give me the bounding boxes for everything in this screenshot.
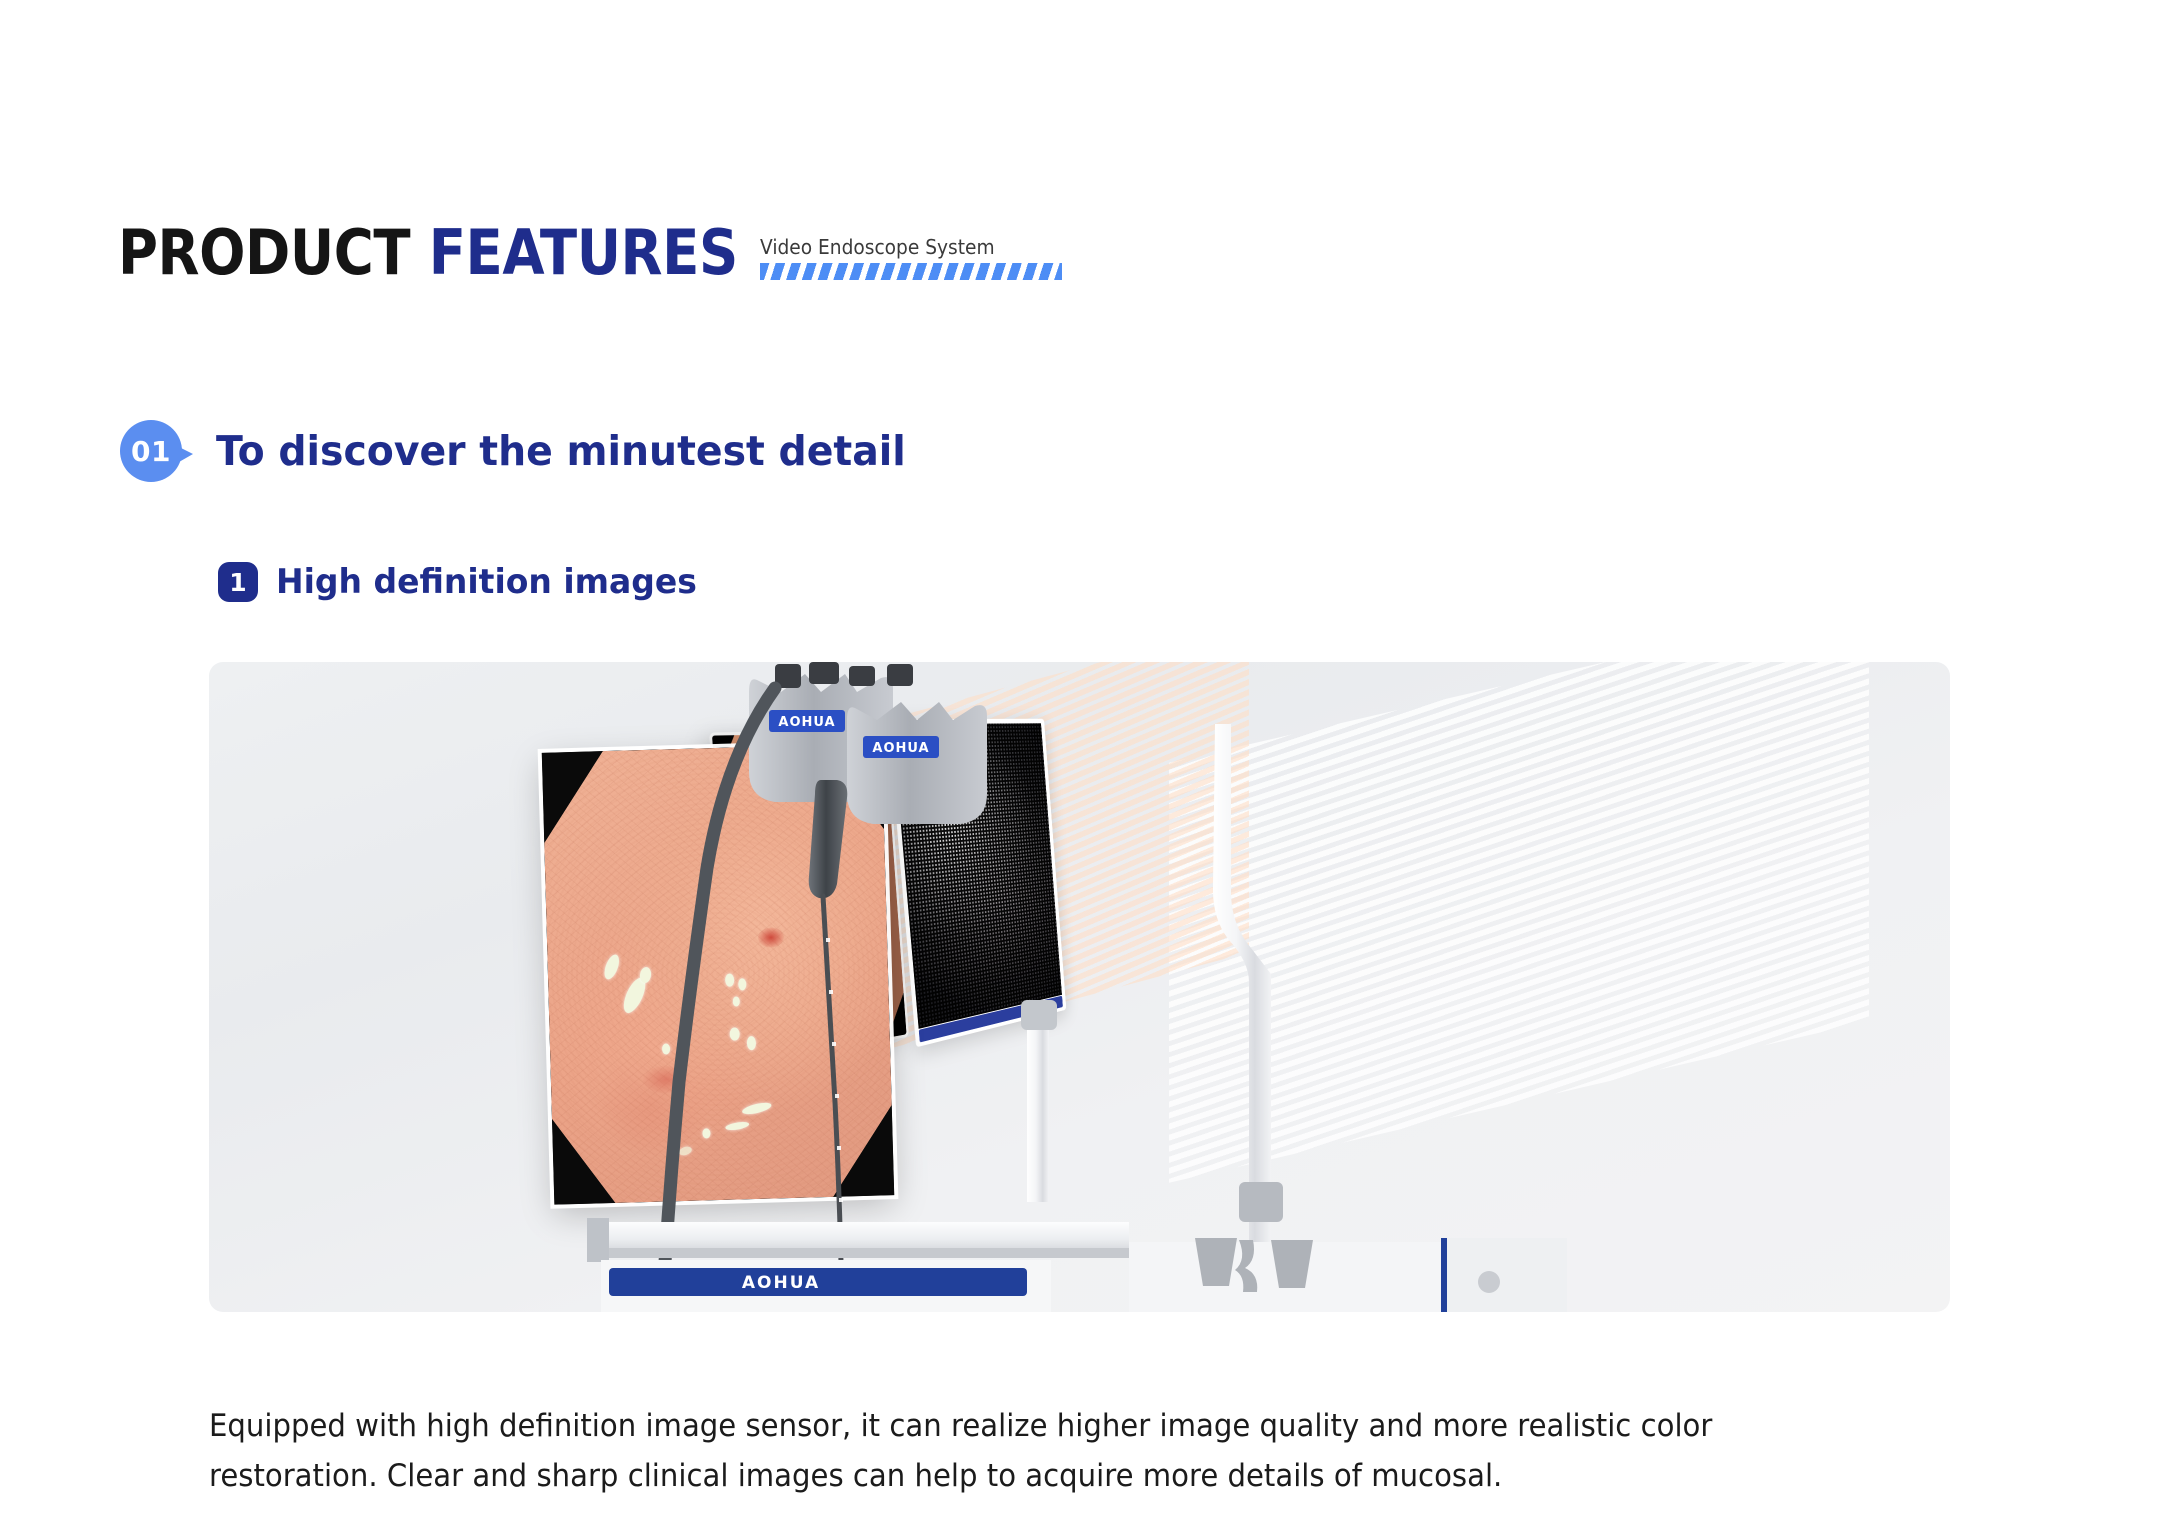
cart-top-shelf-edge xyxy=(601,1248,1129,1258)
page-title-part-product: PRODUCT xyxy=(118,216,429,289)
pole-clamp xyxy=(1239,1182,1283,1222)
page-title-part-features: FEATURES xyxy=(429,216,738,289)
connector-plugs xyxy=(775,662,913,688)
page-subtitle: Video Endoscope System xyxy=(760,236,1041,258)
subsection-number-badge: 1 xyxy=(218,562,258,602)
cart-shelf-end-cap xyxy=(587,1218,609,1262)
monitor-pixelated-screen xyxy=(892,723,1062,1029)
cart-lower-body xyxy=(1447,1238,1567,1312)
cart-support-pole xyxy=(1213,724,1271,1262)
processor-unit xyxy=(601,1260,1051,1312)
monitor-pixelated xyxy=(888,719,1067,1048)
cart-top-shelf xyxy=(601,1222,1129,1250)
section-heading-text: To discover the minutest detail xyxy=(216,427,906,475)
monitor-hd-screen xyxy=(542,743,894,1204)
mucosa-red-lesion-spot xyxy=(758,927,785,948)
endoscopy-cart-illustration: AOHUA AOHUA xyxy=(209,662,1950,1312)
mucus-highlight xyxy=(725,974,734,987)
cart-knob xyxy=(1478,1271,1500,1293)
diagonal-stripes-decoration xyxy=(760,263,1062,280)
mucus-highlight xyxy=(702,1128,710,1138)
product-figure-panel: AOHUA AOHUA xyxy=(209,662,1950,1312)
page-title-text: PRODUCT FEATURES xyxy=(118,222,738,284)
processor-brand-text: AOHUA xyxy=(742,1273,820,1293)
monitor-high-definition xyxy=(542,743,894,1204)
processor-brand-bar xyxy=(609,1268,1027,1296)
subsection-number-label: 1 xyxy=(229,568,246,597)
section-number-label: 01 xyxy=(131,435,171,468)
subsection-heading: 1 High definition images xyxy=(218,562,710,602)
page-title: PRODUCT FEATURES Video Endoscope System xyxy=(118,222,1062,284)
holder-left-logo-text: AOHUA xyxy=(778,715,835,730)
scope-cup-holders xyxy=(1195,1238,1313,1292)
cart-right-shelf xyxy=(1129,1242,1449,1312)
section-number-badge: 01 xyxy=(120,420,182,482)
section-heading: 01 To discover the minutest detail xyxy=(120,420,935,482)
feature-description: Equipped with high definition image sens… xyxy=(209,1401,1826,1501)
motion-streaks-right xyxy=(1169,662,1869,1183)
endoscopic-mucosa-texture xyxy=(542,743,894,1204)
cart-right-shelf-divider xyxy=(1441,1238,1447,1312)
monitor-mount-pole xyxy=(1027,1014,1049,1202)
holder-left-logo-plate xyxy=(769,710,845,732)
subsection-heading-text: High definition images xyxy=(276,562,697,602)
mucus-highlight xyxy=(732,996,739,1006)
